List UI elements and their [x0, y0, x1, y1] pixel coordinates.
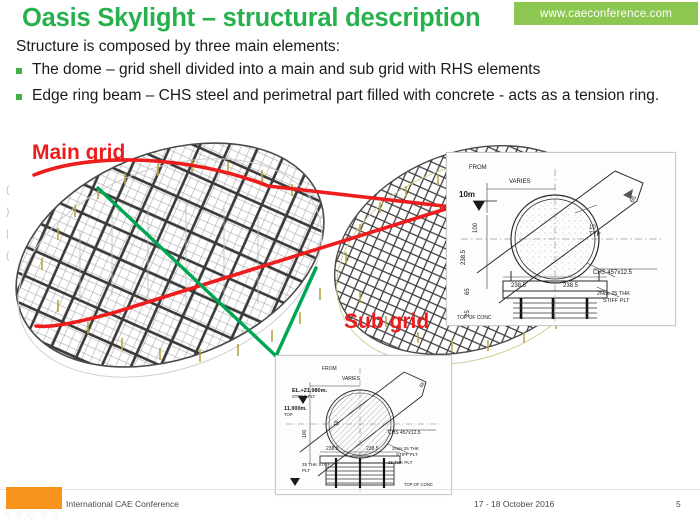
cad-label-varies: VARIES — [509, 179, 531, 185]
cad-label-stiff1: 2Nos 25 THK — [597, 291, 630, 297]
cadb-note-left2: PLT — [302, 468, 310, 473]
footer-logo-block — [6, 487, 62, 509]
cadb-dim-left: 238.5 — [326, 446, 339, 452]
cadb-note-left: 25 THK STIFF — [302, 462, 331, 467]
cadb-dim-v: 10 — [334, 420, 340, 426]
cadb-level2b: TOP — [284, 412, 293, 417]
cad-detail-top[interactable]: FROM VARIES 10m 10 TYP CHS 457x12.5 2Nos… — [446, 152, 676, 326]
cad-dim-65: 65 — [465, 288, 471, 295]
cadb-chs: CHS 457x12.5 — [388, 430, 421, 436]
cad-dim-left: 238.5 — [511, 283, 527, 289]
sub-grid-label: Sub grid — [344, 310, 429, 334]
footer-date: 17 - 18 October 2016 — [474, 499, 554, 509]
cadb-stiff2: STIFF PLT — [396, 452, 418, 457]
cad-top-drawing: FROM VARIES 10m 10 TYP CHS 457x12.5 2Nos… — [447, 153, 675, 325]
cadb-dim-v2: 100 — [302, 429, 308, 438]
cad-label-level: 10m — [459, 190, 475, 199]
cad-label-typ: 10 — [589, 225, 596, 231]
cad-label-typ2: TYP — [589, 232, 601, 238]
footer-conference-name: International CAE Conference — [66, 499, 179, 509]
cad-dim-100: 100 — [473, 222, 479, 233]
cad-note-bottom: TOP OF CONC — [457, 315, 492, 321]
cad-detail-bottom[interactable]: FROM VARIES EL.+21.980m. STIFFR PLT 11.0… — [275, 355, 452, 495]
cadb-dim-right: 238.5 — [366, 446, 379, 452]
cad-dim-right: 238.5 — [563, 283, 579, 289]
cadb-label-varies: VARIES — [342, 376, 361, 382]
cad-label-chs: CHS 457x12.5 — [593, 270, 633, 276]
cadb-plate: 25 THK PLT — [388, 460, 413, 465]
footer-icon-row: ○○◇○○ — [4, 508, 64, 521]
cadb-label-from: FROM — [322, 366, 337, 372]
cadb-note: TOP OF CONC — [404, 482, 433, 487]
cadb-level1b: STIFFR PLT — [292, 394, 316, 399]
cadb-stiff1: 2Nos 25 THK — [392, 446, 419, 451]
cad-dim-25: 25 — [465, 310, 471, 317]
footer-page-number: 5 — [676, 499, 681, 509]
cad-bottom-drawing: FROM VARIES EL.+21.980m. STIFFR PLT 11.0… — [276, 356, 451, 494]
cad-dim-2385: 238.5 — [461, 249, 467, 265]
footer-divider — [0, 489, 700, 490]
cad-label-from: FROM — [469, 165, 487, 171]
cad-label-stiff2: STIFF PLT — [603, 298, 630, 304]
main-grid-label: Main grid — [32, 141, 125, 165]
slide-canvas: www.caeconference.com Oasis Skylight – s… — [0, 0, 700, 523]
